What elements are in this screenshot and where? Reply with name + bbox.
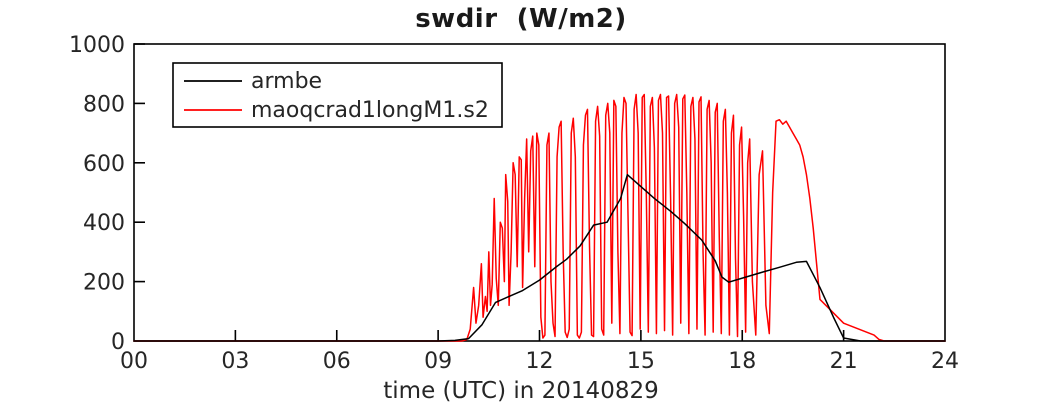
plot-canvas: 02004006008001000 000306091215182124 arm… bbox=[0, 0, 1042, 417]
x-tick-label: 06 bbox=[323, 349, 351, 374]
x-tick-label: 15 bbox=[627, 349, 655, 374]
x-tick-label: 24 bbox=[931, 349, 959, 374]
x-tick-label: 00 bbox=[120, 349, 148, 374]
y-tick-label: 400 bbox=[83, 211, 125, 236]
x-tick-label: 12 bbox=[526, 349, 554, 374]
legend[interactable]: armbe maoqcrad1longM1.s2 bbox=[173, 63, 502, 127]
y-tick-label: 600 bbox=[83, 152, 125, 177]
x-axis-label: time (UTC) in 20140829 bbox=[0, 378, 1042, 404]
y-tick-label: 800 bbox=[83, 92, 125, 117]
x-tick-label: 18 bbox=[728, 349, 756, 374]
x-tick-label: 09 bbox=[424, 349, 452, 374]
y-tick-label: 1000 bbox=[69, 33, 125, 58]
x-tick-label: 21 bbox=[830, 349, 858, 374]
legend-label-maoqcrad1longm1-s2: maoqcrad1longM1.s2 bbox=[251, 98, 489, 123]
x-tick-label: 03 bbox=[221, 349, 249, 374]
chart-figure: swdir (W/m2) 02004006008001000 000306091… bbox=[0, 0, 1042, 417]
legend-label-armbe: armbe bbox=[251, 69, 322, 94]
y-tick-label: 200 bbox=[83, 271, 125, 296]
